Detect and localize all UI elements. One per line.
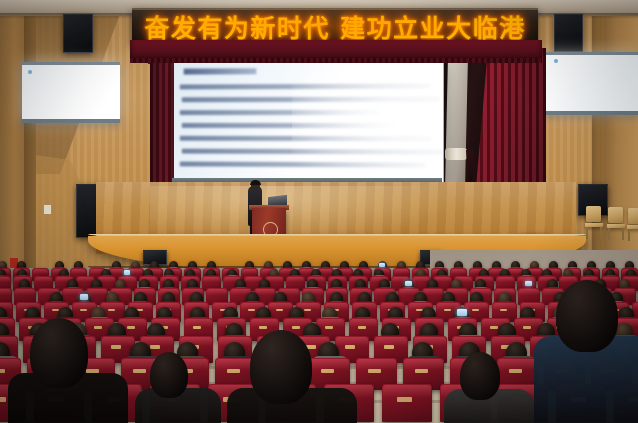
led-banner-text: 奋发有为新时代 建功立业大临港 [132,10,538,44]
side-chair-leg [622,228,624,240]
loudspeaker-icon-top-left [63,14,93,53]
seat-highlight [287,277,304,282]
seat-highlight [242,269,257,274]
audience-device-screen [525,281,532,286]
slide-title-bar [184,68,257,74]
foreground-person-head [30,318,88,388]
seat-highlight [497,277,514,282]
seat-number-plate [80,309,88,312]
seat-highlight [451,269,466,274]
audience-device-screen [379,263,385,267]
foreground-person-head [556,280,618,352]
audience-device-screen [457,309,467,316]
seat-highlight [87,289,107,295]
seat-highlight [633,303,638,310]
seat-number-plate [523,326,532,329]
wall-pilaster-left-inner [24,14,36,284]
projector-hotspot [292,67,444,183]
stage-curtain-left [150,46,176,186]
seat-number-plate [248,309,256,312]
seat-highlight [423,289,443,295]
foreground-person-head [150,352,188,398]
side-chair-back [628,208,638,224]
presenter-hair [250,180,261,185]
aux-right-indicator-dot [554,59,558,63]
seat-number-plate [193,326,202,329]
seat-highlight [35,277,52,282]
side-chair-back [586,206,601,222]
seat-number-plate [150,345,160,349]
audience-device-screen [124,270,130,275]
aux-screen-left [22,62,120,123]
seat-number-plate [384,345,394,349]
led-banner: 奋发有为新时代 建功立业大临港 [132,8,538,44]
seat-highlight [0,289,11,295]
seat-highlight [71,269,86,274]
seat-number-plate [227,369,239,373]
seat-number-plate [0,369,5,373]
seat-highlight [519,289,539,295]
seat-highlight [394,269,409,274]
seat-number-plate [444,309,452,312]
side-chair-back [608,207,623,223]
seat-number-plate [500,309,508,312]
seat-highlight [15,289,35,295]
seat-number-plate [276,309,284,312]
wall-switch-plate [44,205,51,214]
curtain-tieback [445,148,467,160]
aux-left-indicator-dot [28,70,32,74]
side-chair-leg [628,229,630,241]
projection-screen [174,59,444,183]
seat-number-plate [259,326,268,329]
seat-number-plate [358,326,367,329]
auditorium-photo: 奋发有为新时代 建功立业大临港 [0,0,638,423]
seat-highlight [207,289,227,295]
seat-highlight [255,289,275,295]
seat-number-plate [94,326,103,329]
loudspeaker-icon-top-right [554,14,583,52]
stage-valance-fringe [130,58,542,63]
seat-number-plate [133,369,145,373]
aux-screen-right [546,52,638,115]
seat-number-plate [472,309,480,312]
seat-number-plate [304,309,312,312]
seat-number-plate [397,397,412,402]
seat-highlight [560,277,577,282]
seat-number-plate [415,369,427,373]
foreground-person-head [460,352,500,400]
seat-highlight [203,277,220,282]
seat-number-plate [108,309,116,312]
seat-number-plate [509,369,521,373]
audience-device-screen [405,281,412,286]
side-chair-leg [586,227,588,239]
seat-number-plate [111,345,121,349]
seat-number-plate [0,397,6,402]
audience-seat [382,384,432,422]
side-chair-leg [600,227,602,239]
seat-number-plate [292,326,301,329]
side-chair-leg [608,228,610,240]
seat-number-plate [127,326,136,329]
foreground-person-head [250,330,312,404]
seat-highlight [33,269,48,274]
seat-number-plate [490,326,499,329]
seat-highlight [0,277,10,282]
seat-number-plate [321,369,333,373]
seat-number-plate [325,326,334,329]
seat-number-plate [368,369,380,373]
audience-device-screen [80,294,89,300]
seat-number-plate [345,345,355,349]
